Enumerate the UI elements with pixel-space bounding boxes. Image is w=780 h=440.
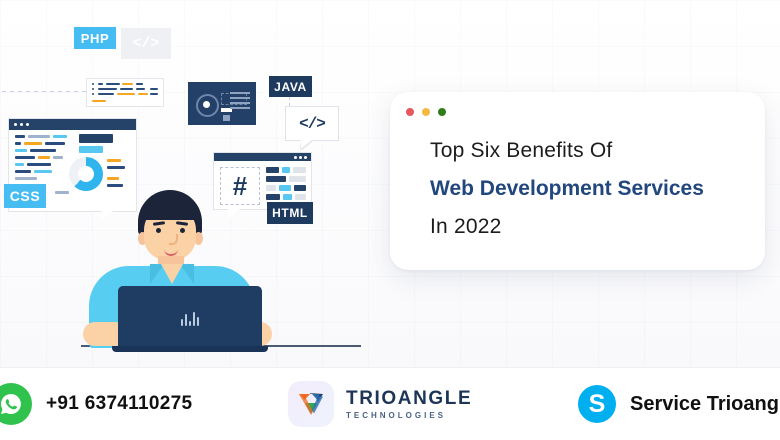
- code-glyph: </>: [132, 35, 159, 52]
- tag-java: JAVA: [269, 76, 312, 97]
- code-snippet-card: [86, 78, 164, 107]
- illustration-stage: PHP </>: [0, 0, 780, 368]
- eye-right: [180, 228, 185, 233]
- promo-banner: PHP </>: [0, 0, 780, 440]
- hair-front: [140, 200, 200, 220]
- tag-css: CSS: [4, 184, 46, 208]
- brand-text: TRIOANGLE TECHNOLOGIES: [346, 389, 472, 420]
- code-speech-bubble: </>: [285, 106, 339, 141]
- brand-name: TRIOANGLE: [346, 389, 472, 408]
- hash-panel-titlebar: [214, 153, 311, 161]
- skype-icon[interactable]: S: [578, 385, 616, 423]
- code-tile-grey: </>: [121, 28, 171, 59]
- whatsapp-icon[interactable]: [0, 383, 32, 425]
- developer-illustration: [56, 190, 306, 350]
- phone-number[interactable]: +91 6374110275: [46, 393, 192, 415]
- laptop: [118, 286, 262, 348]
- skype-contact[interactable]: S Service Trioangle: [578, 385, 780, 423]
- trioangle-logo-icon: [288, 381, 334, 427]
- device-lines: [230, 92, 250, 112]
- code-glyph: </>: [299, 115, 325, 133]
- tag-php: PHP: [74, 27, 116, 49]
- donut-chart: [69, 157, 103, 191]
- title-line-2: Web Development Services: [430, 170, 745, 208]
- laptop-base: [112, 346, 268, 352]
- eye-left: [156, 228, 161, 233]
- skype-glyph: S: [589, 392, 606, 417]
- browser-titlebar: [9, 119, 136, 130]
- title-block: Top Six Benefits Of Web Development Serv…: [430, 132, 745, 246]
- whatsapp-contact[interactable]: +91 6374110275: [0, 383, 192, 425]
- brand-lockup: TRIOANGLE TECHNOLOGIES: [288, 381, 472, 427]
- brand-tagline: TECHNOLOGIES: [346, 412, 472, 420]
- title-card: Top Six Benefits Of Web Development Serv…: [390, 92, 765, 270]
- dashed-connector-left: [2, 91, 88, 92]
- footer-bar: +91 6374110275 TRIOANGLE TECHNOLOGIES: [0, 367, 780, 440]
- title-line-3: In 2022: [430, 208, 745, 246]
- title-line-1: Top Six Benefits Of: [430, 132, 745, 170]
- device-block-small: [223, 115, 230, 121]
- skype-handle[interactable]: Service Trioangle: [630, 393, 780, 416]
- maximize-icon[interactable]: [438, 108, 446, 116]
- target-icon: [196, 94, 219, 117]
- v-neck: [161, 264, 183, 284]
- device-panel: [188, 82, 256, 125]
- window-controls: [406, 108, 446, 116]
- minimize-icon[interactable]: [422, 108, 430, 116]
- close-icon[interactable]: [406, 108, 414, 116]
- laptop-logo-icon: [181, 312, 199, 326]
